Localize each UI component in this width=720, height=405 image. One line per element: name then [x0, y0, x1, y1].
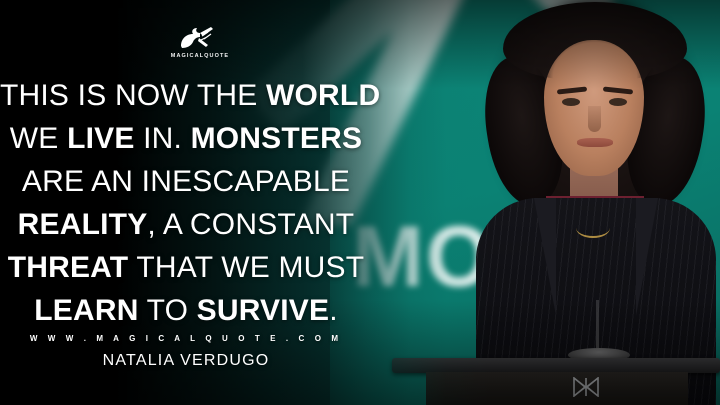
quote-line-3: ARE AN INESCAPABLE	[0, 160, 372, 203]
quote-line-2: WE LIVE IN. MONSTERS	[0, 117, 372, 160]
quill-bird-logo-icon	[177, 26, 223, 52]
quote-image: MO	[0, 0, 720, 405]
quote-line-5: THREAT THAT WE MUST	[0, 246, 372, 289]
speaker-name: NATALIA VERDUGO	[0, 352, 372, 370]
quote-line-1: THIS IS NOW THE WORLD	[0, 74, 372, 117]
quote-line-6: LEARN TO SURVIVE.	[0, 289, 372, 332]
website-url[interactable]: W W W . M A G I C A L Q U O T E . C O M	[0, 334, 372, 343]
magicalquote-logo[interactable]: MAGICALQUOTE	[0, 26, 400, 59]
quote-line-4: REALITY, A CONSTANT	[0, 203, 372, 246]
logo-wordmark: MAGICALQUOTE	[0, 53, 400, 59]
quote-text: THIS IS NOW THE WORLD WE LIVE IN. MONSTE…	[0, 74, 372, 332]
